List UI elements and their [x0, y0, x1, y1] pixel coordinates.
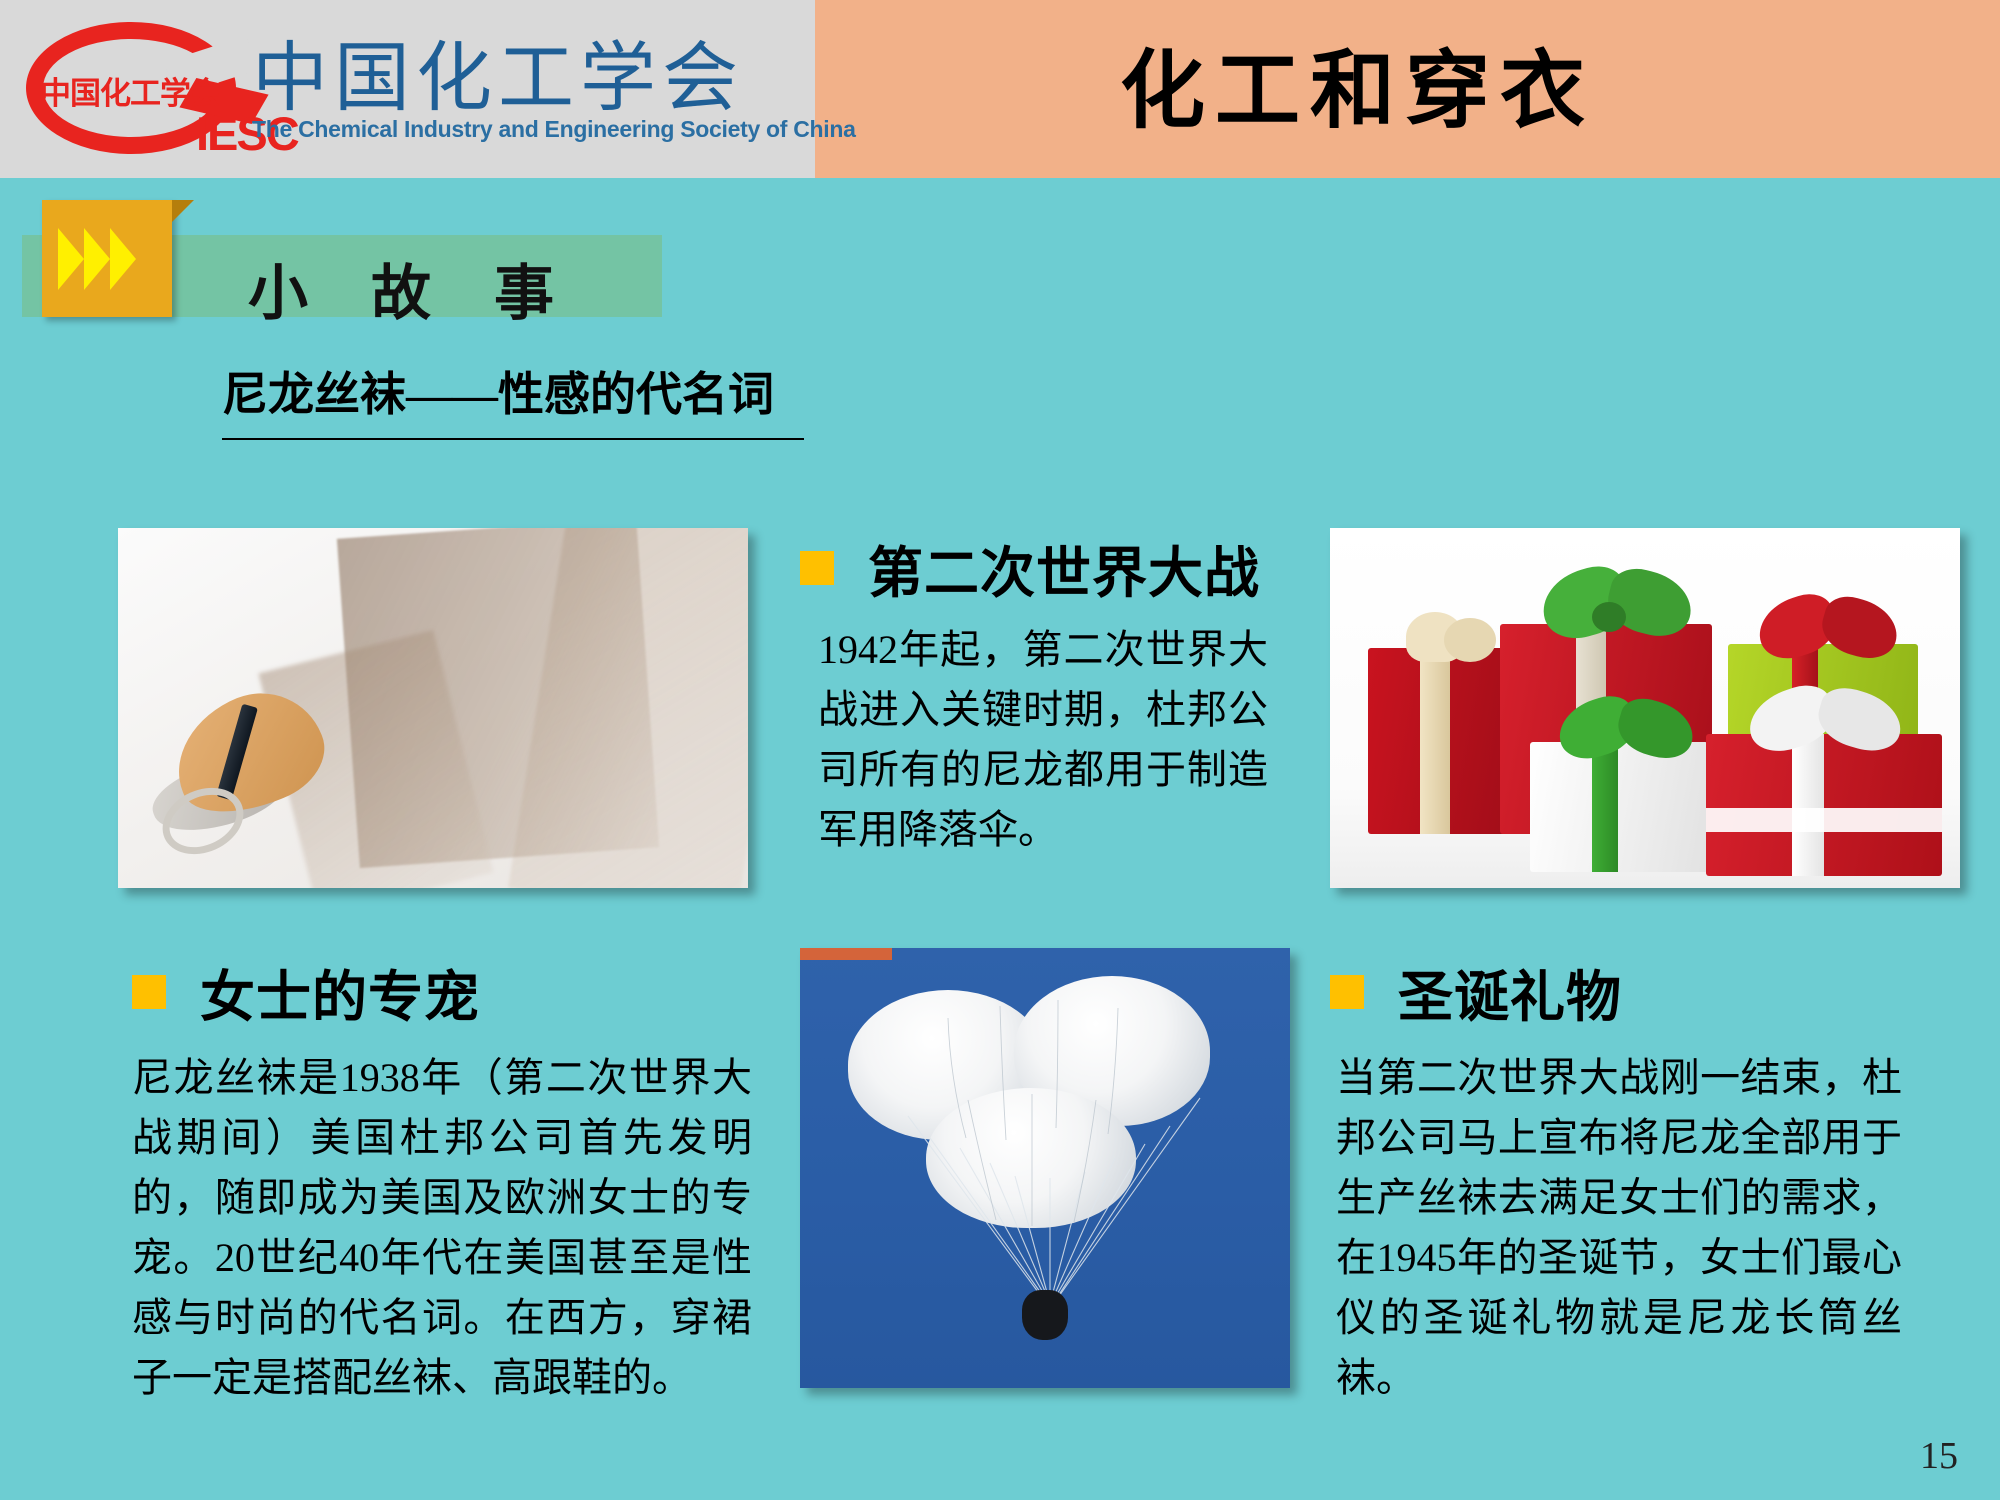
- org-name-chinese: 中国化工学会: [252, 16, 744, 126]
- chevron-right-icon-1: [58, 228, 84, 290]
- section-banner-fold-icon: [172, 200, 194, 222]
- slide-title: 化工和穿衣: [1120, 22, 1595, 145]
- section-banner-label: 小 故 事: [248, 245, 578, 332]
- parachute-photo: [800, 948, 1290, 1388]
- section-banner: 小 故 事: [0, 190, 700, 315]
- parachutist-figure: [1022, 1290, 1068, 1340]
- bullet-square-icon: [800, 551, 834, 585]
- page-number: 15: [1920, 1434, 1958, 1478]
- section-heading-text: 女士的专宠: [200, 952, 480, 1032]
- section-body-christmas: 当第二次世界大战刚一结束，杜邦公司马上宣布将尼龙全部用于生产丝袜去满足女士们的需…: [1336, 1048, 1902, 1408]
- section-heading-text: 圣诞礼物: [1398, 952, 1622, 1032]
- section-heading-text: 第二次世界大战: [868, 528, 1260, 608]
- gift-box-white-green-bow: [1530, 742, 1708, 872]
- gifts-photo: [1330, 528, 1960, 888]
- logo-panel: 中国化工学会 IESC 中国化工学会 The Chemical Industry…: [0, 0, 815, 178]
- section-heading-christmas: 圣诞礼物: [1330, 952, 1622, 1032]
- gift-box-red-white-bow: [1706, 734, 1942, 876]
- slide-header: 中国化工学会 IESC 中国化工学会 The Chemical Industry…: [0, 0, 2000, 178]
- triple-chevron-icon: [58, 228, 158, 290]
- logo-inner-label: 中国化工学会: [40, 68, 210, 113]
- section-body-wwii: 1942年起，第二次世界大战进入关键时期，杜邦公司所有的尼龙都用于制造军用降落伞…: [818, 620, 1268, 860]
- section-body-ladies: 尼龙丝袜是1938年（第二次世界大战期间）美国杜邦公司首先发明的，随即成为美国及…: [132, 1048, 752, 1408]
- section-heading-wwii: 第二次世界大战: [800, 528, 1260, 608]
- org-name-english: The Chemical Industry and Engineering So…: [252, 116, 856, 143]
- high-heel-shoe-shape: [133, 678, 343, 868]
- chevron-right-icon-3: [110, 228, 136, 290]
- bullet-square-icon: [132, 975, 166, 1009]
- chevron-right-icon-2: [84, 228, 110, 290]
- stocking-photo: [118, 528, 748, 888]
- story-subtitle: 尼龙丝袜——性感的代名词: [222, 358, 804, 440]
- bullet-square-icon: [1330, 975, 1364, 1009]
- section-heading-ladies: 女士的专宠: [132, 952, 480, 1032]
